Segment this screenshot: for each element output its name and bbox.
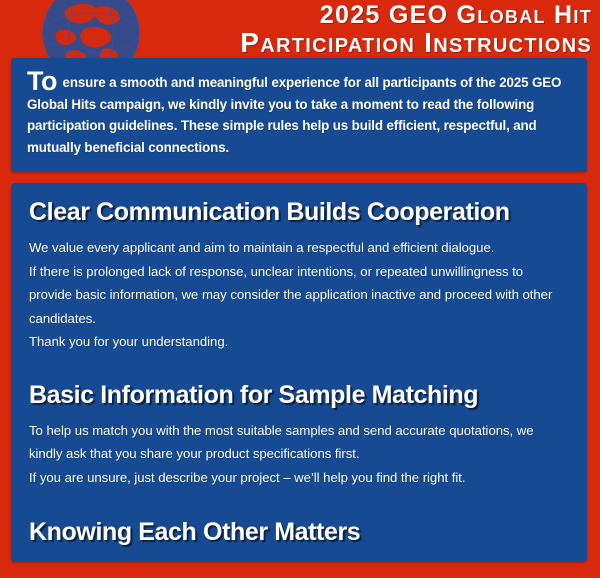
section-basic-information: Basic Information for Sample Matching To… — [29, 380, 569, 490]
title-line-primary: 2025 GEO Global Hit — [112, 2, 592, 28]
section-paragraph: Thank you for your understanding. — [29, 330, 569, 354]
intro-dropcap: To — [27, 66, 57, 96]
section-paragraph: We value every applicant and aim to main… — [29, 236, 569, 260]
section-clear-communication: Clear Communication Builds Cooperation W… — [29, 197, 569, 354]
intro-paragraph: To ensure a smooth and meaningful experi… — [27, 69, 571, 159]
intro-panel: To ensure a smooth and meaningful experi… — [11, 58, 587, 172]
poster-header: 2025 GEO Global Hit Participation Instru… — [0, 0, 600, 58]
instructions-panel: Clear Communication Builds Cooperation W… — [11, 183, 587, 562]
section-heading: Clear Communication Builds Cooperation — [29, 197, 569, 227]
section-paragraph: If you are unsure, just describe your pr… — [29, 466, 569, 490]
section-paragraph: To help us match you with the most suita… — [29, 419, 569, 466]
poster-root: 2025 GEO Global Hit Participation Instru… — [0, 0, 600, 578]
section-knowing-each-other: Knowing Each Other Matters — [29, 517, 569, 547]
section-body: We value every applicant and aim to main… — [29, 236, 569, 354]
section-heading: Knowing Each Other Matters — [29, 517, 569, 547]
section-heading: Basic Information for Sample Matching — [29, 380, 569, 410]
title-line-secondary: Participation Instructions — [112, 28, 592, 57]
section-body: To help us match you with the most suita… — [29, 419, 569, 490]
intro-body-text: ensure a smooth and meaningful experienc… — [27, 75, 561, 155]
section-paragraph: If there is prolonged lack of response, … — [29, 260, 569, 331]
poster-title: 2025 GEO Global Hit Participation Instru… — [112, 2, 592, 57]
